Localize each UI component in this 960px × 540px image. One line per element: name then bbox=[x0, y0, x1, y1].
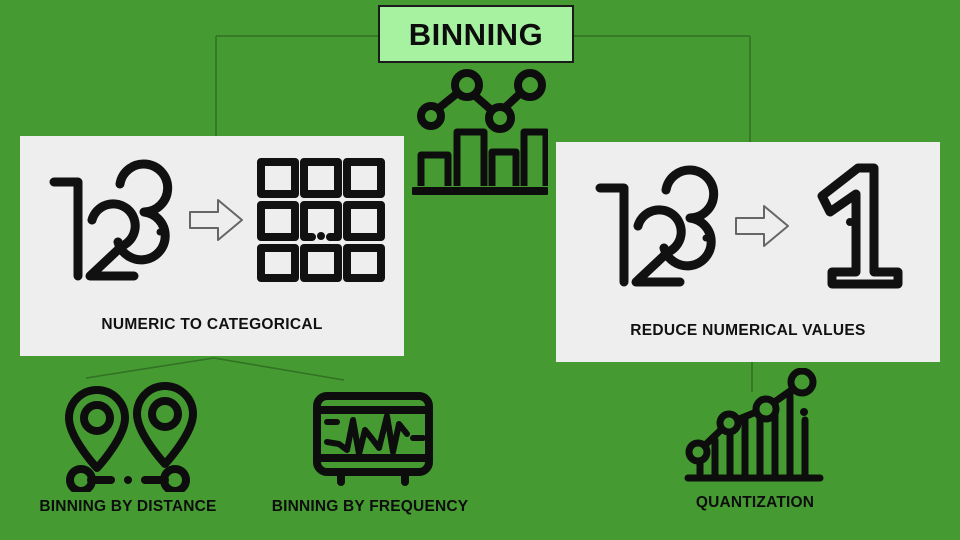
numbers-123-icon bbox=[38, 154, 176, 291]
connector-left-card-to-frequency bbox=[214, 358, 344, 380]
card-figure bbox=[556, 158, 940, 298]
binning-title-box: BINNING bbox=[378, 5, 574, 63]
map-pins-distance-icon bbox=[8, 382, 248, 492]
grid-3x3-icon bbox=[256, 157, 386, 288]
card-label: NUMERIC TO CATEGORICAL bbox=[20, 316, 404, 334]
numeral-one-icon bbox=[802, 160, 912, 297]
bar-line-chart-icon bbox=[412, 68, 548, 200]
arrow-right-outline-icon bbox=[186, 192, 246, 253]
item-label: BINNING BY DISTANCE bbox=[8, 498, 248, 516]
item-quantization[interactable]: QUANTIZATION bbox=[640, 368, 870, 512]
card-reduce-numerical-values[interactable]: REDUCE NUMERICAL VALUES bbox=[556, 142, 940, 362]
ascending-bar-line-chart-icon bbox=[640, 368, 870, 488]
arrow-right-outline-icon bbox=[732, 198, 792, 259]
item-label: BINNING BY FREQUENCY bbox=[250, 498, 490, 516]
item-binning-by-frequency[interactable]: BINNING BY FREQUENCY bbox=[250, 382, 490, 516]
numbers-123-icon bbox=[584, 160, 722, 297]
card-label: REDUCE NUMERICAL VALUES bbox=[556, 322, 940, 340]
connector-left-card-to-distance bbox=[86, 358, 214, 378]
item-label: QUANTIZATION bbox=[640, 494, 870, 512]
item-binning-by-distance[interactable]: BINNING BY DISTANCE bbox=[8, 382, 248, 516]
card-figure bbox=[20, 152, 404, 292]
waveform-monitor-icon bbox=[250, 382, 490, 492]
page-title: BINNING bbox=[409, 19, 543, 50]
infographic-canvas: BINNING bbox=[0, 0, 960, 540]
card-numeric-to-categorical[interactable]: NUMERIC TO CATEGORICAL bbox=[20, 136, 404, 356]
